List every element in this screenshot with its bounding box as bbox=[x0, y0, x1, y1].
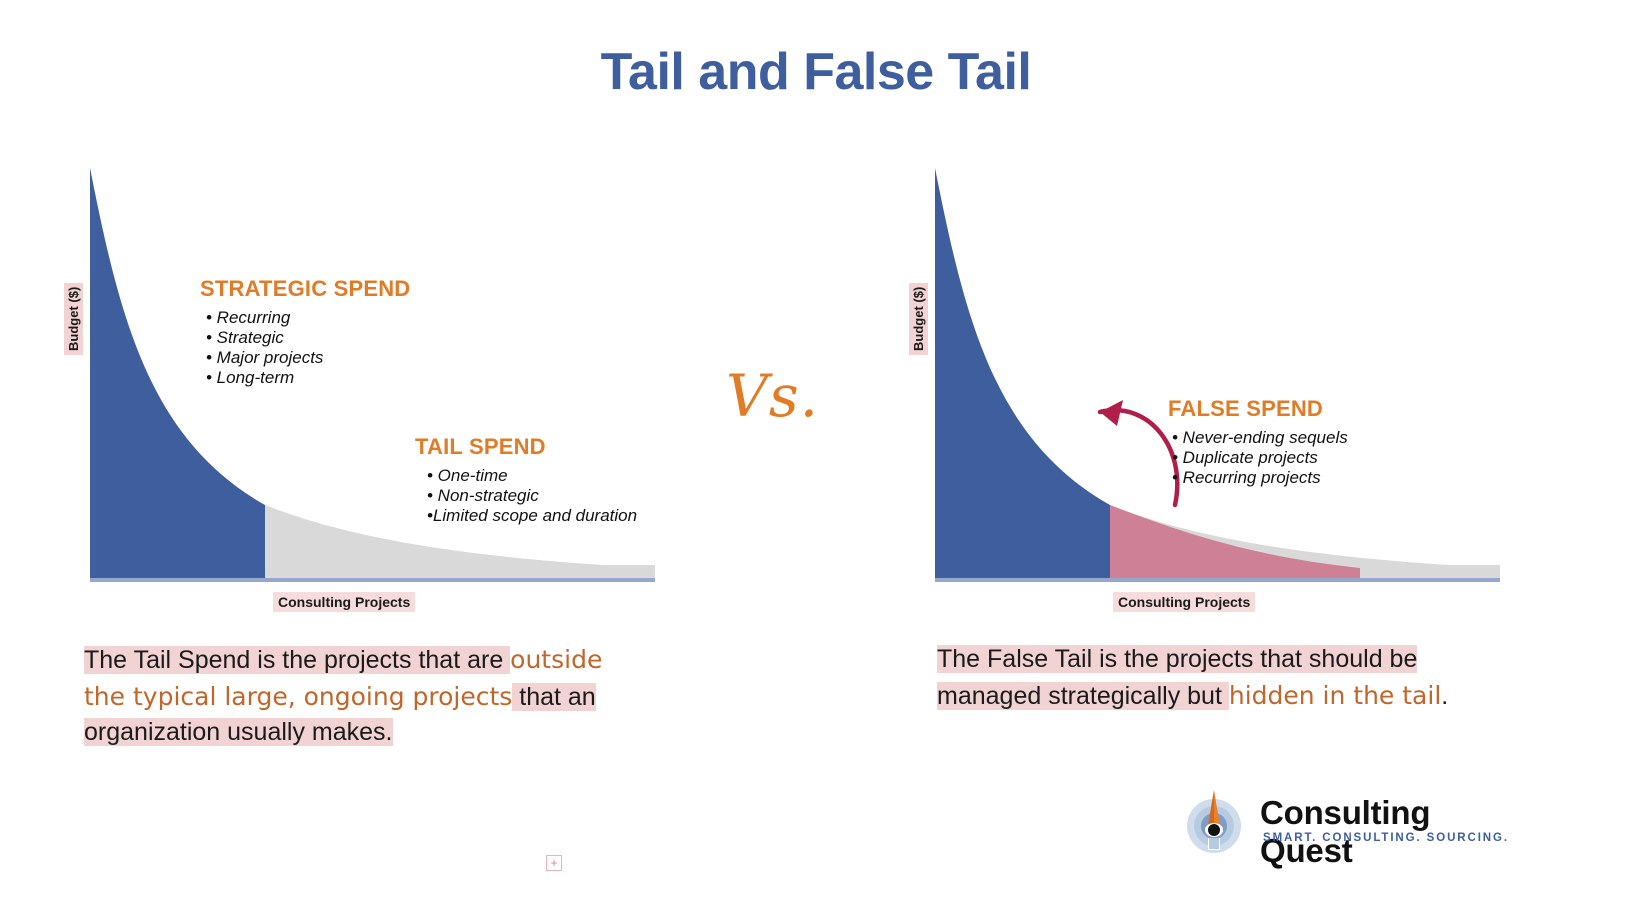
list-item: • Recurring projects bbox=[1172, 468, 1348, 488]
y-axis-label-left: Budget ($) bbox=[64, 283, 83, 355]
callout-tail-spend: TAIL SPEND • One-time • Non-strategic •L… bbox=[415, 434, 637, 526]
callout-heading-strategic: STRATEGIC SPEND bbox=[200, 276, 410, 302]
list-item: • Recurring bbox=[206, 308, 410, 328]
caption-false-tail: The False Tail is the projects that shou… bbox=[937, 642, 1497, 714]
crop-mark-icon: + bbox=[546, 855, 562, 871]
callout-list-false: • Never-ending sequels • Duplicate proje… bbox=[1172, 428, 1348, 488]
callout-arrow-head bbox=[1100, 400, 1123, 426]
callout-heading-tail: TAIL SPEND bbox=[415, 434, 637, 460]
list-item: • Never-ending sequels bbox=[1172, 428, 1348, 448]
list-item: • Major projects bbox=[206, 348, 410, 368]
caption-segment: . bbox=[1441, 682, 1448, 710]
list-item: • Non-strategic bbox=[427, 486, 637, 506]
tail-baseline-left bbox=[265, 565, 655, 578]
callout-heading-false: FALSE SPEND bbox=[1168, 396, 1348, 422]
axis-baseline-left bbox=[90, 578, 655, 582]
callout-strategic-spend: STRATEGIC SPEND • Recurring • Strategic … bbox=[200, 276, 410, 388]
callout-list-strategic: • Recurring • Strategic • Major projects… bbox=[206, 308, 410, 388]
list-item: • Duplicate projects bbox=[1172, 448, 1348, 468]
y-axis-label-right: Budget ($) bbox=[909, 283, 928, 355]
callout-arrow-curve bbox=[1100, 410, 1177, 505]
versus-separator: Vs. bbox=[726, 362, 819, 430]
decay-curve-right bbox=[935, 160, 1535, 585]
callout-list-tail: • One-time • Non-strategic •Limited scop… bbox=[427, 466, 637, 526]
list-item: •Limited scope and duration bbox=[427, 506, 637, 526]
caption-segment: The Tail Spend is the projects that are bbox=[84, 646, 510, 674]
x-axis-label-right: Consulting Projects bbox=[1113, 592, 1255, 612]
brand-logo: Consulting Quest SMART. CONSULTING. SOUR… bbox=[1178, 786, 1523, 854]
list-item: • Long-term bbox=[206, 368, 410, 388]
compass-logo-icon bbox=[1178, 786, 1250, 854]
page-title: Tail and False Tail bbox=[0, 42, 1632, 102]
caption-segment-handwritten: hidden in the tail bbox=[1229, 681, 1441, 710]
list-item: • Strategic bbox=[206, 328, 410, 348]
strategic-area-right bbox=[935, 168, 1110, 578]
chart-panel-tail-spend: Budget ($) Consulting Projects bbox=[60, 160, 700, 630]
x-axis-label-left: Consulting Projects bbox=[273, 592, 415, 612]
slide-canvas: Tail and False Tail Budget ($) Consultin… bbox=[0, 0, 1632, 917]
caption-tail-spend: The Tail Spend is the projects that are … bbox=[84, 642, 644, 751]
logo-tagline: SMART. CONSULTING. SOURCING. bbox=[1263, 832, 1509, 844]
list-item: • One-time bbox=[427, 466, 637, 486]
axis-baseline-right bbox=[935, 578, 1500, 582]
chart-panel-false-tail: Budget ($) Consulting Projects bbox=[905, 160, 1545, 630]
callout-false-spend: FALSE SPEND • Never-ending sequels • Dup… bbox=[1168, 396, 1348, 488]
